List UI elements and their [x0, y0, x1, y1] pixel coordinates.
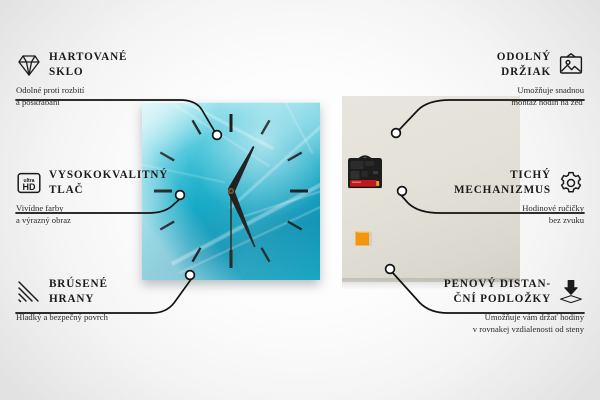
- feature-title-line1: ODOLNÝ: [497, 50, 551, 65]
- feature-title: PENOVÝ DISTAN- ČNÍ PODLOŽKY: [444, 277, 551, 307]
- feature-durable-hanger: ODOLNÝ DRŽIAK Umožňuje snadnou montáž ho…: [396, 50, 584, 108]
- feature-title-line2: TLAČ: [49, 183, 168, 198]
- feature-header: HARTOVANÉ SKLO: [16, 50, 204, 80]
- wire-node-foam: [386, 265, 395, 274]
- picture-frame-hanger-icon: [558, 52, 584, 78]
- feature-header: ODOLNÝ DRŽIAK: [396, 50, 584, 80]
- feature-description: Vivídne farby a výrazný obraz: [16, 202, 204, 227]
- feature-desc-line1: Vivídne farby: [16, 202, 204, 214]
- feature-description: Odolné proti rozbití a poškrábání: [16, 84, 204, 109]
- feature-desc-line1: Hodinové ručičky: [396, 202, 584, 214]
- feature-desc-line1: Hladký a bezpečný povrch: [16, 311, 204, 323]
- feature-desc-line2: montáž hodin na zeď: [396, 96, 584, 108]
- wire-node-hanger: [392, 129, 401, 138]
- feature-description: Umožňuje vám držať hodiny v rovnakej vzd…: [386, 311, 584, 336]
- feature-title-line1: HARTOVANÉ: [49, 50, 127, 65]
- infographic-canvas: HARTOVANÉ SKLO Odolné proti rozbití a po…: [0, 0, 600, 400]
- feature-desc-line1: Odolné proti rozbití: [16, 84, 204, 96]
- feature-description: Hodinové ručičky bez zvuku: [396, 202, 584, 227]
- wire-node-tempered-glass: [213, 131, 222, 140]
- feature-title-line1: TICHÝ: [454, 168, 551, 183]
- feature-silent-mechanism: TICHÝ MECHANIZMUS Hodinové ručičky bez z…: [396, 168, 584, 226]
- feature-desc-line1: Umožňuje snadnou: [396, 84, 584, 96]
- feature-desc-line2: bez zvuku: [396, 214, 584, 226]
- svg-text:HD: HD: [23, 182, 36, 192]
- feature-description: Umožňuje snadnou montáž hodin na zeď: [396, 84, 584, 109]
- feature-title-line1: BRÚSENÉ: [49, 277, 108, 292]
- feature-header: TICHÝ MECHANIZMUS: [396, 168, 584, 198]
- feature-header: ultra HD VYSOKOKVALITNÝ TLAČ: [16, 168, 204, 198]
- gear-icon: [558, 170, 584, 196]
- feature-title-line2: MECHANIZMUS: [454, 183, 551, 198]
- feature-header: BRÚSENÉ HRANY: [16, 277, 204, 307]
- feature-desc-line2: a poškrábání: [16, 96, 204, 108]
- feature-title-line1: PENOVÝ DISTAN-: [444, 277, 551, 292]
- feature-title: VYSOKOKVALITNÝ TLAČ: [49, 168, 168, 198]
- feature-tempered-glass: HARTOVANÉ SKLO Odolné proti rozbití a po…: [16, 50, 204, 108]
- feature-title: ODOLNÝ DRŽIAK: [497, 50, 551, 80]
- hatched-edge-icon: [16, 279, 42, 305]
- feature-description: Hladký a bezpečný povrch: [16, 311, 204, 323]
- feature-title-line2: DRŽIAK: [497, 65, 551, 80]
- feature-title: TICHÝ MECHANIZMUS: [454, 168, 551, 198]
- feature-desc-line1: Umožňuje vám držať hodiny: [386, 311, 584, 323]
- feature-title: HARTOVANÉ SKLO: [49, 50, 127, 80]
- feature-title-line2: ČNÍ PODLOŽKY: [444, 292, 551, 307]
- feature-title: BRÚSENÉ HRANY: [49, 277, 108, 307]
- feature-desc-line2: v rovnakej vzdialenosti od steny: [386, 323, 584, 335]
- diamond-icon: [16, 52, 42, 78]
- feature-ground-edges: BRÚSENÉ HRANY Hladký a bezpečný povrch: [16, 277, 204, 323]
- arrow-down-stack-icon: [558, 279, 584, 305]
- feature-hd-print: ultra HD VYSOKOKVALITNÝ TLAČ Vivídne far…: [16, 168, 204, 226]
- feature-title-line1: VYSOKOKVALITNÝ: [49, 168, 168, 183]
- ultra-hd-icon: ultra HD: [16, 170, 42, 196]
- feature-foam-spacers: PENOVÝ DISTAN- ČNÍ PODLOŽKY Umožňuje vám…: [386, 277, 584, 335]
- feature-desc-line2: a výrazný obraz: [16, 214, 204, 226]
- feature-title-line2: HRANY: [49, 292, 108, 307]
- feature-header: PENOVÝ DISTAN- ČNÍ PODLOŽKY: [386, 277, 584, 307]
- feature-title-line2: SKLO: [49, 65, 127, 80]
